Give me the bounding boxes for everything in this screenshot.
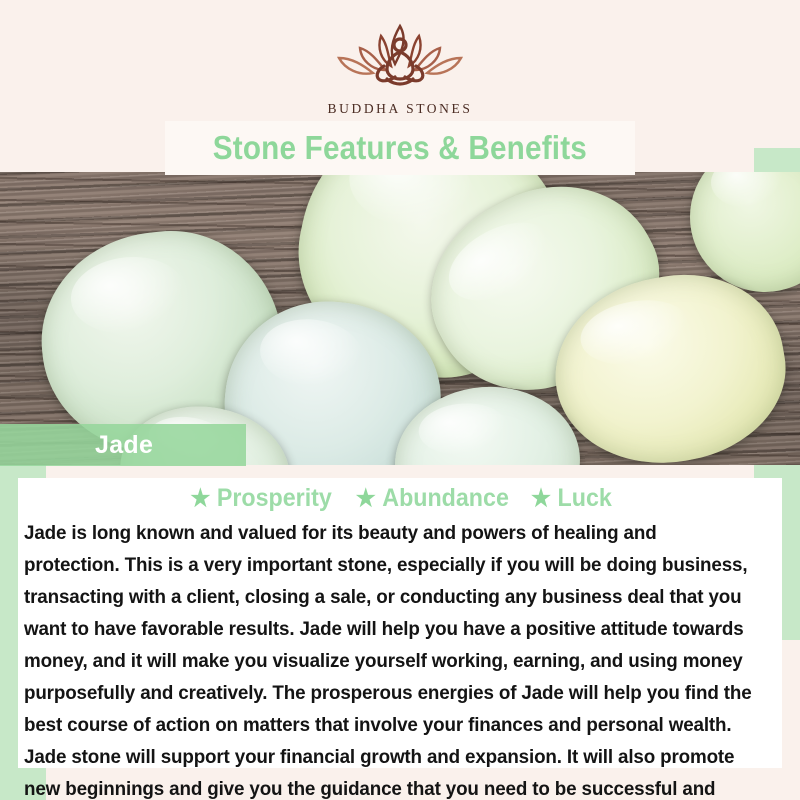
- title-banner: Stone Features & Benefits: [165, 121, 635, 175]
- star-icon: ★: [356, 487, 376, 511]
- keyword-abundance: ★ Abundance: [356, 484, 509, 513]
- stone-photo: [0, 172, 800, 465]
- keyword-prosperity: ★ Prosperity: [190, 484, 332, 513]
- stone-description: Jade is long known and valued for its be…: [24, 517, 753, 800]
- brand-header: BUDDHA STONES: [0, 22, 800, 122]
- stone-benefits-poster: BUDDHA STONES Stone Features & Benefits …: [0, 0, 800, 800]
- keyword-luck: ★ Luck: [531, 484, 612, 513]
- lotus-meditation-icon: [0, 22, 800, 99]
- brand-name: BUDDHA STONES: [0, 101, 800, 117]
- content-panel: ★ Prosperity ★ Abundance ★ Luck Jade is …: [18, 478, 782, 768]
- photo-caption-band: Jade: [0, 424, 246, 466]
- keyword-list: ★ Prosperity ★ Abundance ★ Luck: [18, 478, 782, 513]
- keyword-label: Abundance: [383, 484, 510, 513]
- stone-name-label: Jade: [95, 431, 153, 460]
- keyword-label: Prosperity: [217, 484, 332, 513]
- star-icon: ★: [190, 487, 210, 511]
- keyword-label: Luck: [558, 484, 612, 513]
- star-icon: ★: [531, 487, 551, 511]
- page-title: Stone Features & Benefits: [213, 129, 587, 167]
